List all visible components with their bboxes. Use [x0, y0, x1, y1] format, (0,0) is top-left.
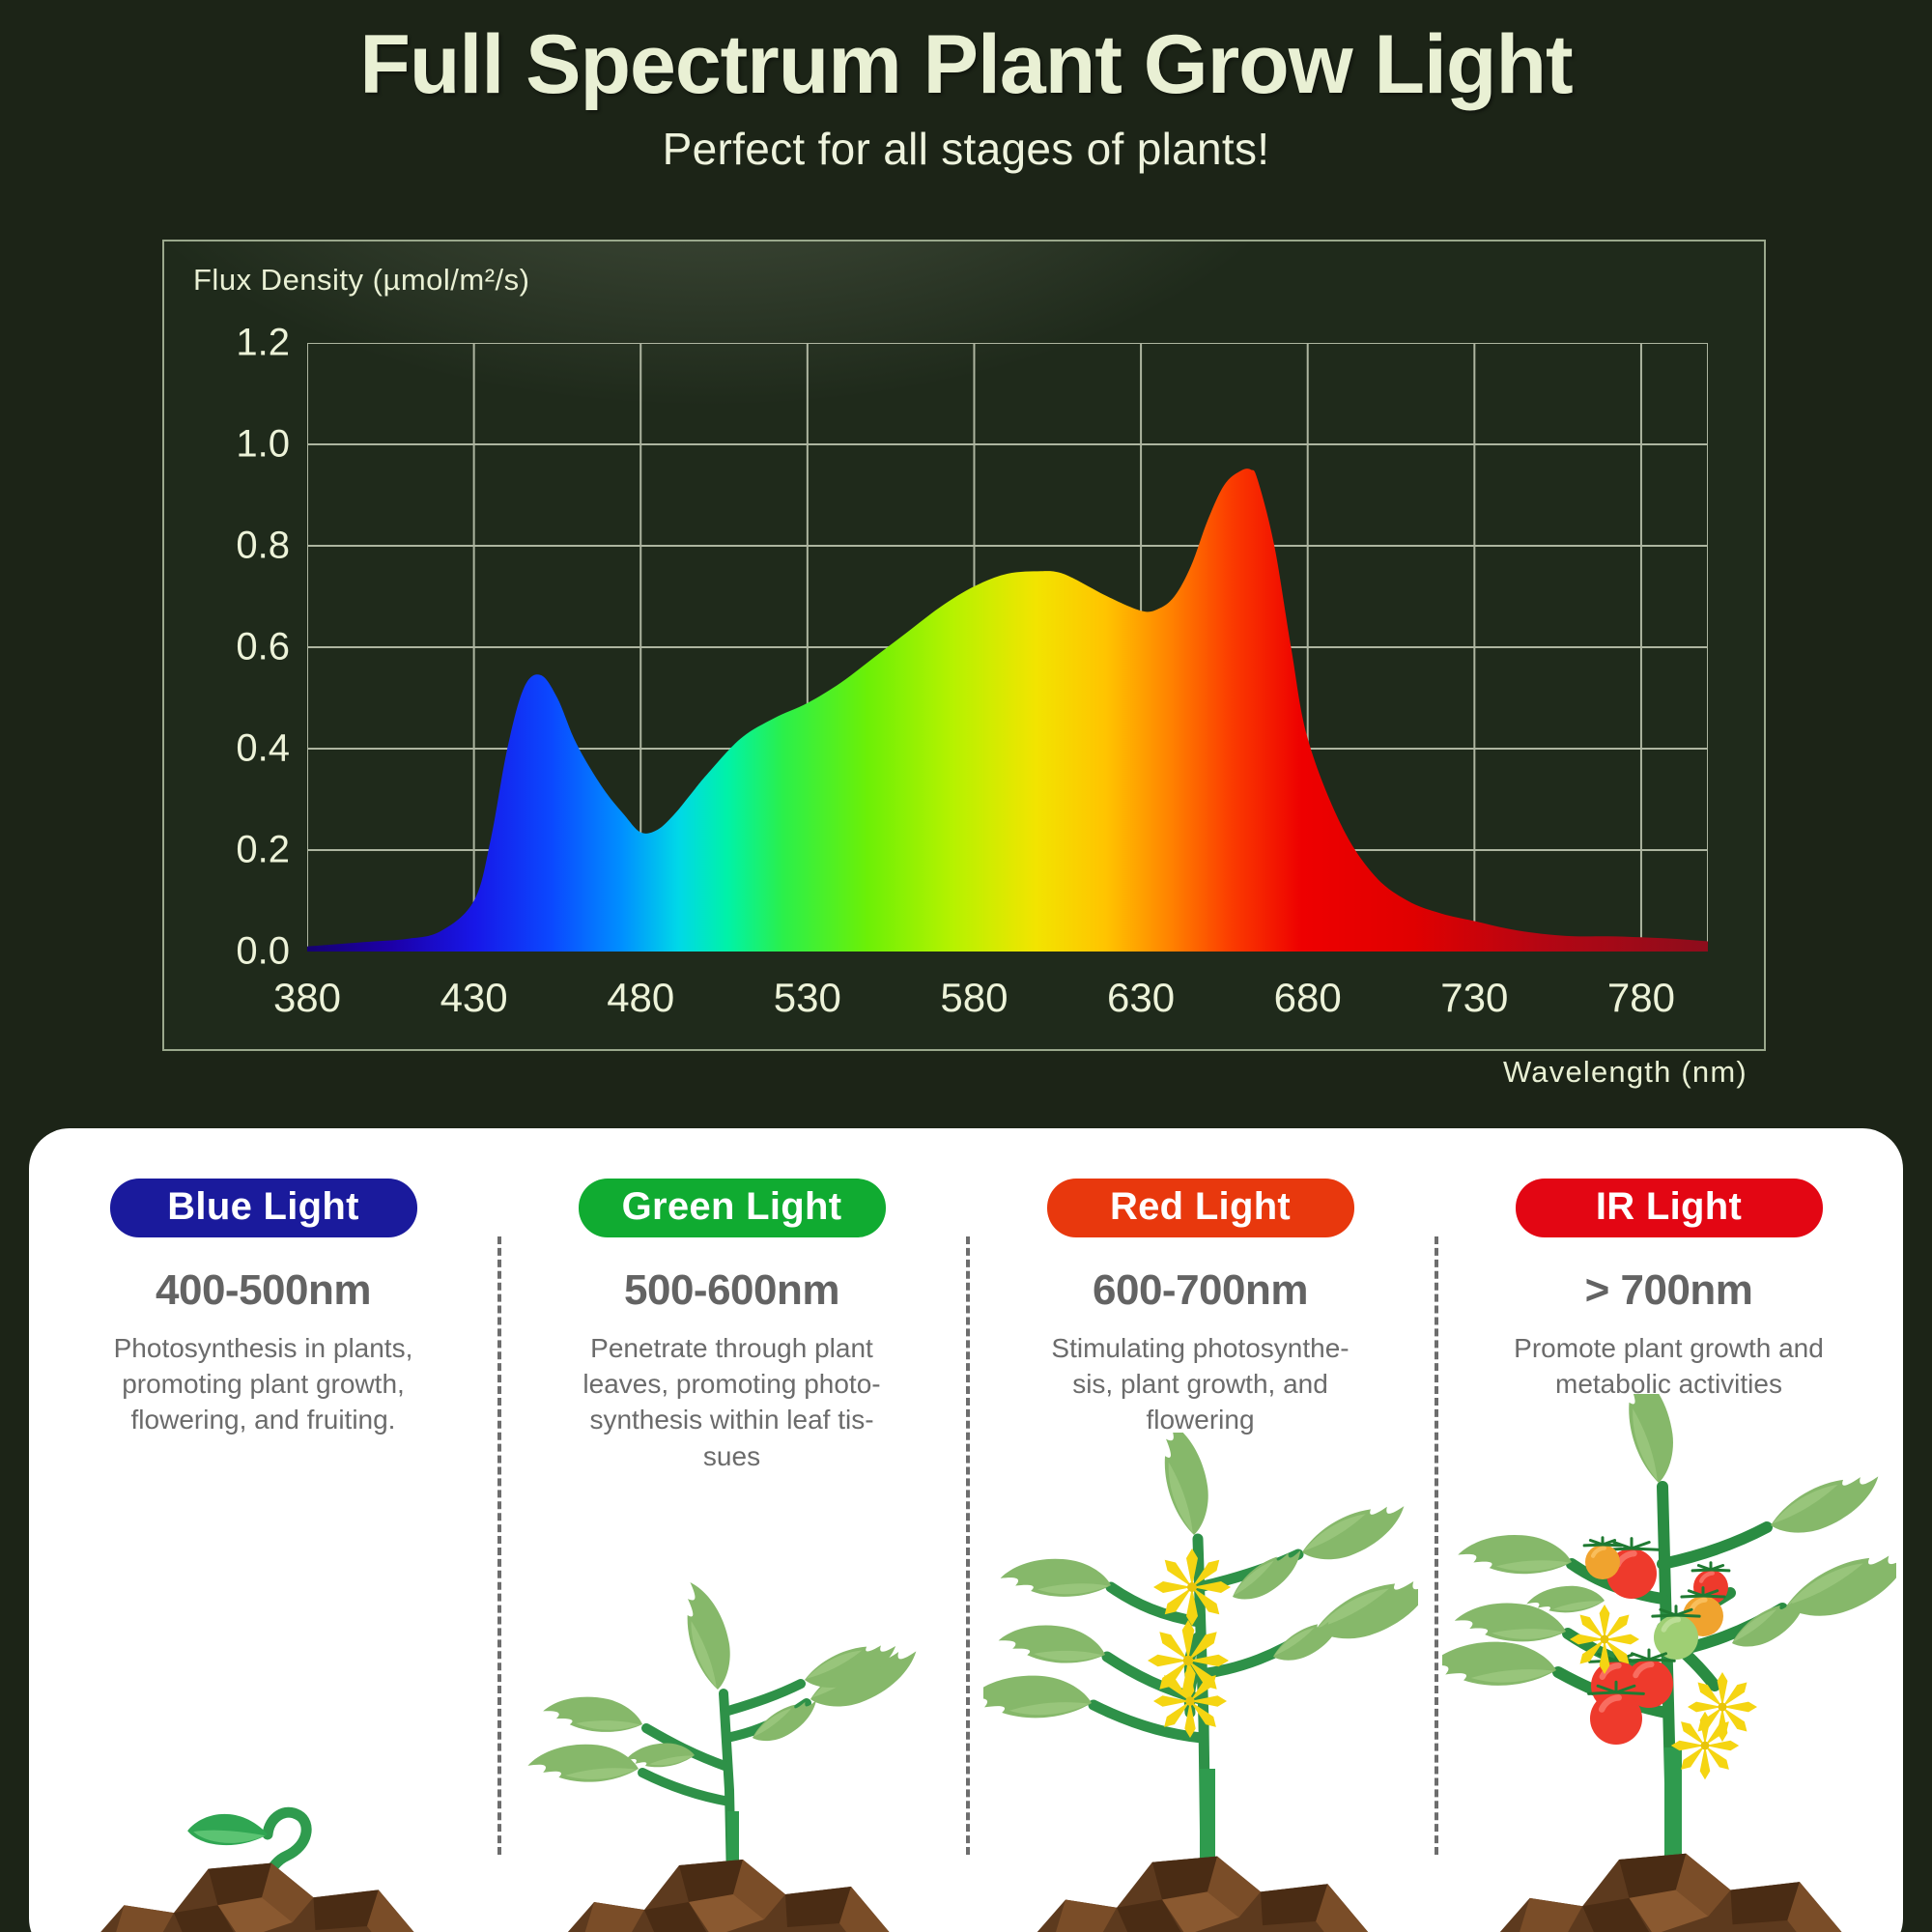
badge-ir-light[interactable]: IR Light — [1516, 1179, 1823, 1237]
plant-sprout — [71, 1780, 457, 1932]
spectrum-curve — [307, 343, 1708, 952]
light-type-column: Green Light500-600nmPenetrate through pl… — [497, 1128, 966, 1932]
plant-illustration-seedling — [525, 1548, 940, 1932]
light-description: Photosynthesis in plants, promoting plan… — [104, 1330, 423, 1438]
page-title: Full Spectrum Plant Grow Light — [0, 0, 1932, 109]
column-divider — [1435, 1236, 1438, 1855]
badge-blue-light[interactable]: Blue Light — [110, 1179, 417, 1237]
wavelength-range: > 700nm — [1435, 1266, 1903, 1315]
y-tick-label: 0.0 — [174, 930, 290, 974]
light-description: Promote plant growth and metabolic activ… — [1510, 1330, 1829, 1402]
x-tick-label: 630 — [1064, 975, 1218, 1021]
light-types-card: Blue Light400-500nmPhotosynthesis in pla… — [29, 1128, 1903, 1932]
page-subtitle: Perfect for all stages of plants! — [0, 123, 1932, 175]
page-root: Full Spectrum Plant Grow Light Perfect f… — [0, 0, 1932, 1932]
x-tick-label: 580 — [896, 975, 1051, 1021]
y-tick-label: 0.4 — [174, 727, 290, 771]
badge-red-light[interactable]: Red Light — [1047, 1179, 1354, 1237]
wavelength-range: 500-600nm — [497, 1266, 966, 1315]
x-tick-label: 380 — [230, 975, 384, 1021]
y-tick-label: 1.2 — [174, 322, 290, 365]
plant-flowering — [983, 1433, 1418, 1932]
y-axis-title: Flux Density (µmol/m²/s) — [193, 263, 530, 298]
x-tick-label: 680 — [1231, 975, 1385, 1021]
y-tick-label: 1.0 — [174, 423, 290, 467]
light-description: Penetrate through plant leaves, promotin… — [573, 1330, 892, 1474]
spectrum-plot — [307, 343, 1708, 952]
x-tick-label: 480 — [563, 975, 718, 1021]
plant-illustration-sprout — [71, 1780, 457, 1932]
light-description: Stimulating photosynthe-sis, plant growt… — [1041, 1330, 1360, 1438]
x-tick-label: 780 — [1564, 975, 1719, 1021]
plant-illustration-fruiting — [1442, 1394, 1896, 1932]
wavelength-range: 400-500nm — [29, 1266, 497, 1315]
x-axis-title: Wavelength (nm) — [1503, 1055, 1747, 1090]
plant-illustration-flowering — [983, 1433, 1418, 1932]
light-type-column: IR Light> 700nmPromote plant growth and … — [1435, 1128, 1903, 1932]
light-type-column: Red Light600-700nmStimulating photosynth… — [966, 1128, 1435, 1932]
badge-green-light[interactable]: Green Light — [579, 1179, 886, 1237]
plant-seedling — [525, 1548, 940, 1932]
x-tick-label: 530 — [730, 975, 885, 1021]
header: Full Spectrum Plant Grow Light Perfect f… — [0, 0, 1932, 193]
plant-fruiting — [1442, 1394, 1896, 1932]
y-tick-label: 0.8 — [174, 525, 290, 568]
column-divider — [966, 1236, 970, 1855]
light-type-column: Blue Light400-500nmPhotosynthesis in pla… — [29, 1128, 497, 1932]
column-divider — [497, 1236, 501, 1855]
x-tick-label: 730 — [1397, 975, 1551, 1021]
y-tick-label: 0.6 — [174, 626, 290, 669]
wavelength-range: 600-700nm — [966, 1266, 1435, 1315]
y-tick-label: 0.2 — [174, 829, 290, 872]
x-tick-label: 430 — [397, 975, 552, 1021]
